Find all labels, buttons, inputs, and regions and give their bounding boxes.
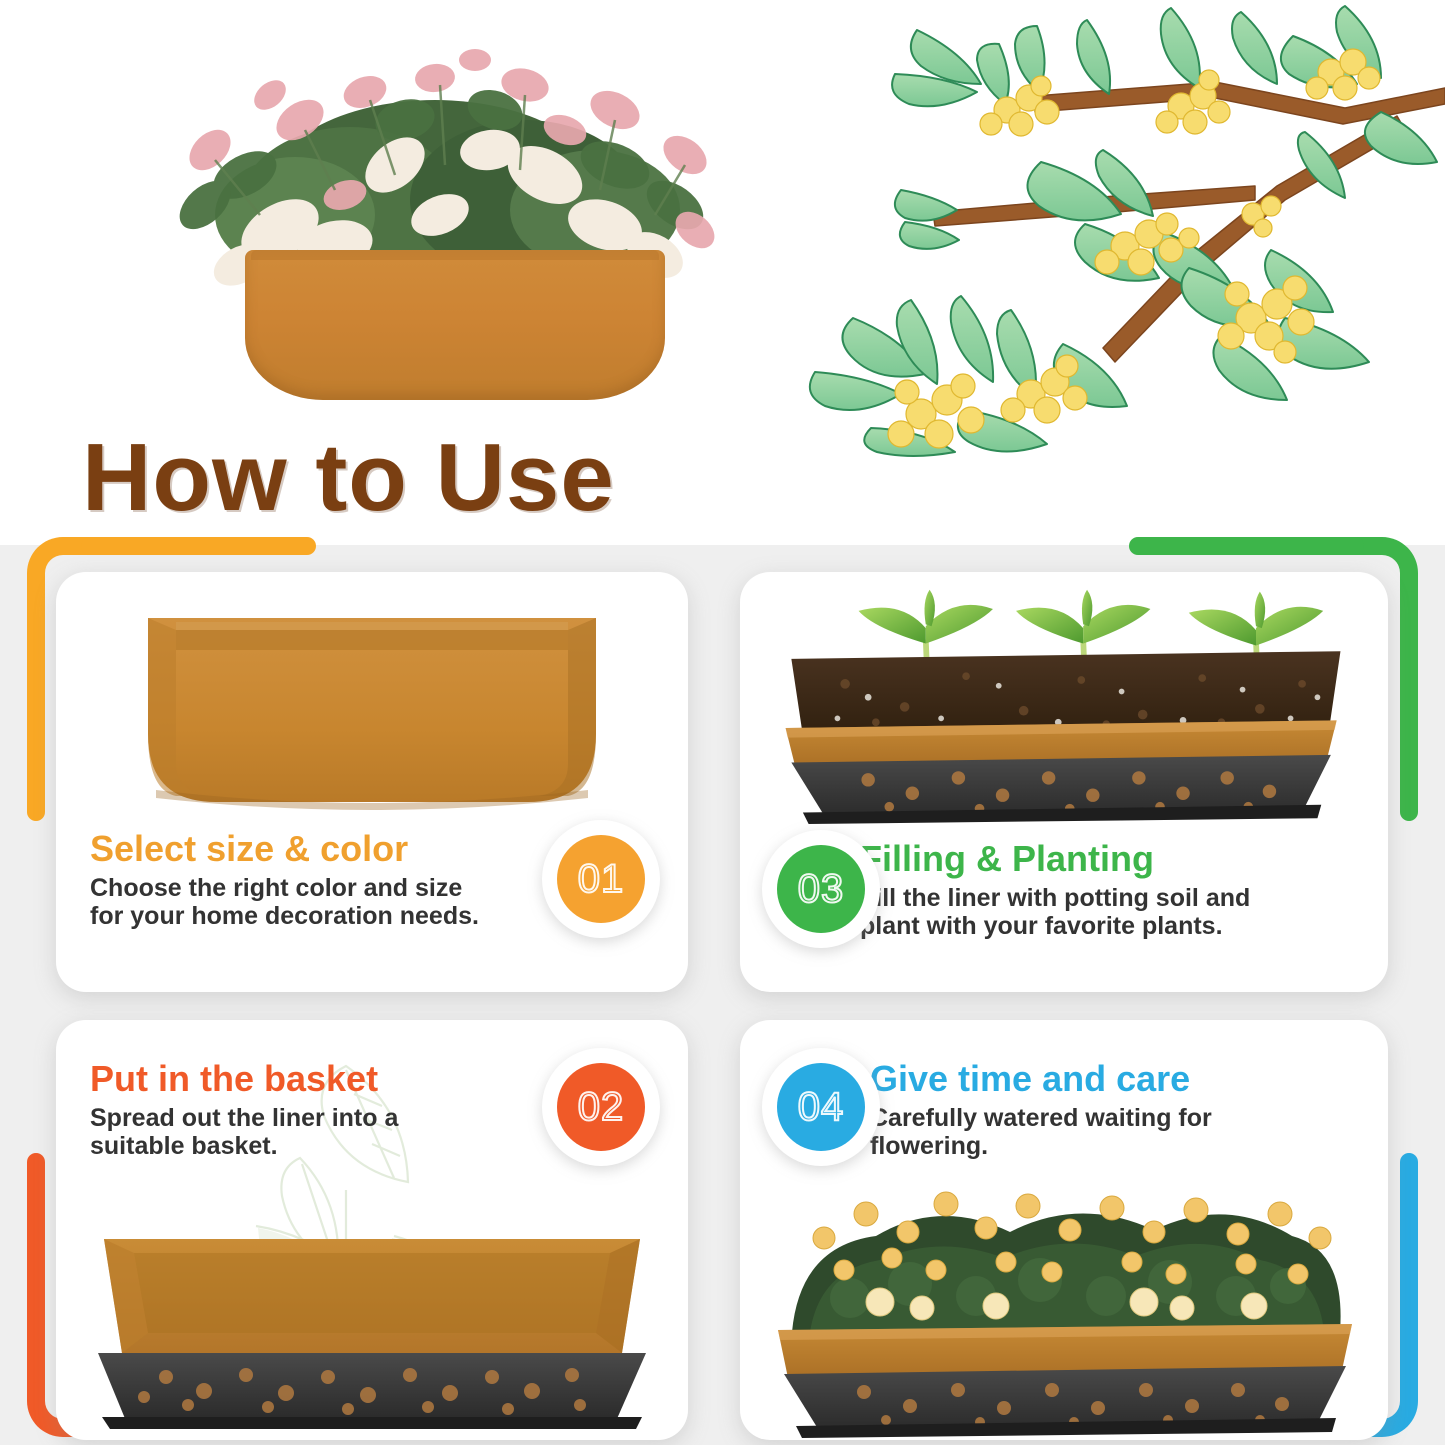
step-01-headline: Select size & color	[90, 830, 530, 868]
planter-full-of-yellow-roses-image	[740, 1178, 1388, 1440]
step-04-body: Carefully watered waiting for flowering.	[870, 1104, 1370, 1160]
liner-inside-black-metal-basket-image	[56, 1225, 688, 1440]
terracotta-coco-liner-empty-image	[56, 584, 688, 824]
step-01-number-badge: 01	[542, 820, 660, 938]
step-01-body-line2: for your home decoration needs.	[90, 902, 530, 930]
step-01-number: 01	[557, 835, 645, 923]
step-02-headline: Put in the basket	[90, 1060, 550, 1098]
step-02-text: Put in the basket Spread out the liner i…	[90, 1060, 550, 1160]
step-01-text: Select size & color Choose the right col…	[90, 830, 530, 930]
step-02-body-line1: Spread out the liner into a	[90, 1104, 550, 1132]
step-02-number-badge: 02	[542, 1048, 660, 1166]
step-04-number-badge: 04	[762, 1048, 880, 1166]
hero-planter-pot	[245, 250, 665, 400]
step-03-number: 03	[777, 845, 865, 933]
step-03-number-badge: 03	[762, 830, 880, 948]
step-01-body-line1: Choose the right color and size	[90, 874, 530, 902]
step-04-body-line2: flowering.	[870, 1132, 1370, 1160]
step-04-body-line1: Carefully watered waiting for	[870, 1104, 1370, 1132]
step-card-04[interactable]: Give time and care Carefully watered wai…	[740, 1020, 1388, 1440]
step-02-body: Spread out the liner into a suitable bas…	[90, 1104, 550, 1160]
step-card-02[interactable]: Put in the basket Spread out the liner i…	[56, 1020, 688, 1440]
step-03-body-line2: plant with your favorite plants.	[860, 912, 1360, 940]
page-title: How to Use	[82, 430, 615, 526]
hero-banner: How to Use	[0, 0, 1445, 545]
step-03-body-line1: Fill the liner with potting soil and	[860, 884, 1360, 912]
step-card-03[interactable]: Filling & Planting Fill the liner with p…	[740, 572, 1388, 992]
osmanthus-branch-illustration	[785, 0, 1445, 460]
step-01-body: Choose the right color and size for your…	[90, 874, 530, 930]
step-03-headline: Filling & Planting	[860, 840, 1360, 878]
hero-planter-photo	[95, 0, 795, 420]
step-04-text: Give time and care Carefully watered wai…	[870, 1060, 1370, 1160]
step-02-number: 02	[557, 1063, 645, 1151]
step-04-headline: Give time and care	[870, 1060, 1370, 1098]
step-03-text: Filling & Planting Fill the liner with p…	[860, 840, 1360, 940]
steps-grid: Select size & color Choose the right col…	[0, 545, 1445, 1445]
step-03-body: Fill the liner with potting soil and pla…	[860, 884, 1360, 940]
step-card-01[interactable]: Select size & color Choose the right col…	[56, 572, 688, 992]
step-02-body-line2: suitable basket.	[90, 1132, 550, 1160]
step-04-number: 04	[777, 1063, 865, 1151]
planter-with-soil-and-seedlings-image	[740, 584, 1388, 824]
